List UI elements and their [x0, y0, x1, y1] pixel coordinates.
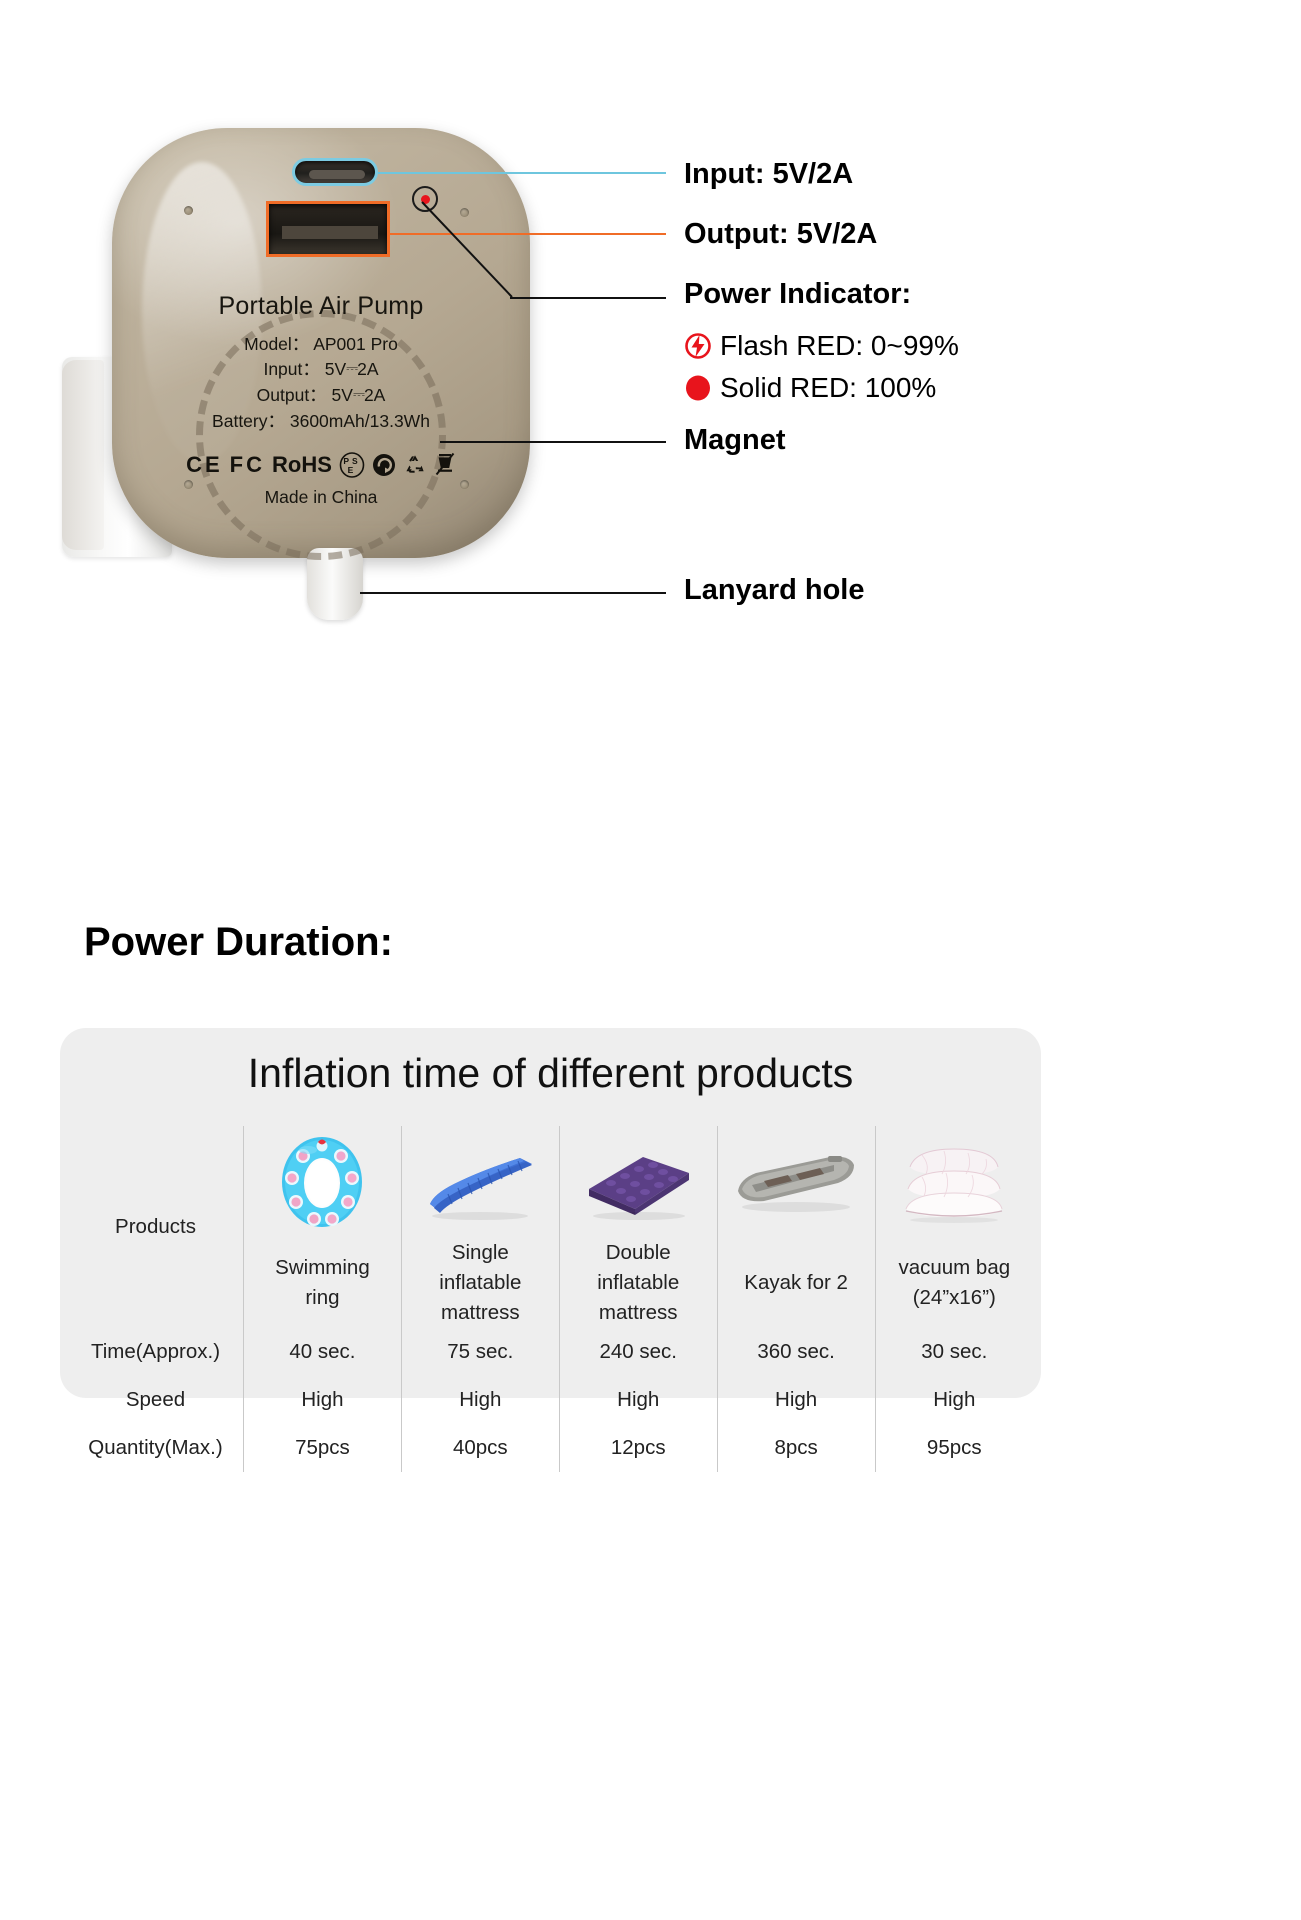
- dc-symbol-input-icon: ⎓: [346, 360, 357, 377]
- product-name-line: Kayak for 2: [718, 1268, 875, 1298]
- product-name-line: Swimming: [244, 1253, 401, 1283]
- thumbnail-cell-kayak: [717, 1126, 875, 1238]
- row-label-products: Products: [68, 1126, 244, 1328]
- product-name-line: (24”x16”): [876, 1283, 1033, 1313]
- device-spec-battery: Battery： 3600mAh/13.3Wh: [112, 409, 530, 434]
- product-name-line: Single: [402, 1238, 559, 1268]
- double-mattress-icon: [577, 1143, 699, 1221]
- product-name-kayak: Kayak for 2: [717, 1238, 875, 1328]
- table-row-time: Time(Approx.) 40 sec. 75 sec. 240 sec. 3…: [68, 1328, 1033, 1376]
- product-diagram: Portable Air Pump Model： AP001 Pro Input…: [0, 0, 1301, 700]
- leader-line-magnet: [440, 441, 666, 443]
- annotation-solid-red-label: Solid RED: 100%: [720, 372, 936, 404]
- table-row-speed: Speed High High High High High: [68, 1376, 1033, 1424]
- recycling-triangle-icon: [403, 453, 427, 477]
- kayak-icon: [730, 1145, 862, 1219]
- leader-line-lanyard: [360, 592, 666, 594]
- device-spec-input-text: Input： 5V: [263, 359, 346, 379]
- table-row-thumbnails: Products: [68, 1126, 1033, 1238]
- device-spec-model: Model： AP001 Pro: [112, 332, 530, 357]
- time-value-vacuum-bag: 30 sec.: [875, 1328, 1033, 1376]
- annotation-magnet: Magnet: [684, 424, 786, 457]
- thumbnail-cell-swimming-ring: [244, 1126, 402, 1238]
- device-made-in-label: Made in China: [112, 487, 530, 508]
- annotation-input: Input: 5V/2A: [684, 158, 853, 191]
- pse-mark-icon: PS E: [339, 452, 365, 478]
- usb-c-input-port: [292, 158, 378, 186]
- device-spec-input-amps: 2A: [357, 359, 378, 379]
- quantity-value-double-mattress: 12pcs: [559, 1424, 717, 1472]
- annotation-flash-red: Flash RED: 0~99%: [684, 330, 959, 362]
- usb-a-tongue: [282, 226, 378, 239]
- flash-bolt-icon: [684, 331, 712, 361]
- annotation-solid-red: Solid RED: 100%: [684, 372, 936, 404]
- usb-c-tongue: [309, 170, 365, 179]
- device-label-specs: Model： AP001 Pro Input： 5V⎓2A Output： 5V…: [112, 332, 530, 434]
- svg-text:E: E: [348, 465, 357, 475]
- time-value-single-mattress: 75 sec.: [401, 1328, 559, 1376]
- leader-line-power-indicator: [510, 297, 666, 299]
- speed-value-double-mattress: High: [559, 1376, 717, 1424]
- product-name-line: Double: [560, 1238, 717, 1268]
- product-name-single-mattress: Single inflatable mattress: [401, 1238, 559, 1328]
- product-name-line: vacuum bag: [876, 1253, 1033, 1283]
- product-name-line: mattress: [560, 1298, 717, 1328]
- quantity-value-kayak: 8pcs: [717, 1424, 875, 1472]
- pump-nozzle-cap: [62, 360, 104, 550]
- product-name-line: inflatable: [560, 1268, 717, 1298]
- row-label-quantity: Quantity(Max.): [68, 1424, 244, 1472]
- certification-marks-row: CE FC RoHS PS E: [112, 452, 530, 478]
- screw-top-left: [184, 206, 193, 215]
- product-name-line: inflatable: [402, 1268, 559, 1298]
- time-value-double-mattress: 240 sec.: [559, 1328, 717, 1376]
- thumbnail-cell-single-mattress: [401, 1126, 559, 1238]
- swimming-ring-icon: [268, 1134, 376, 1230]
- device-spec-output-amps: 2A: [364, 385, 385, 405]
- weee-crossed-bin-icon: [434, 452, 456, 478]
- speed-value-vacuum-bag: High: [875, 1376, 1033, 1424]
- speed-value-single-mattress: High: [401, 1376, 559, 1424]
- thumbnail-cell-vacuum-bag: [875, 1126, 1033, 1238]
- annotation-power-indicator: Power Indicator:: [684, 278, 911, 311]
- china-recycle-mark-icon: [372, 453, 396, 477]
- annotation-lanyard-hole: Lanyard hole: [684, 574, 865, 607]
- product-name-vacuum-bag: vacuum bag (24”x16”): [875, 1238, 1033, 1328]
- ce-mark-icon: CE: [186, 452, 223, 478]
- usb-a-output-port: [266, 201, 390, 257]
- quantity-value-single-mattress: 40pcs: [401, 1424, 559, 1472]
- product-name-line: mattress: [402, 1298, 559, 1328]
- product-name-swimming-ring: Swimming ring: [244, 1238, 402, 1328]
- row-label-time: Time(Approx.): [68, 1328, 244, 1376]
- time-value-swimming-ring: 40 sec.: [244, 1328, 402, 1376]
- quantity-value-vacuum-bag: 95pcs: [875, 1424, 1033, 1472]
- speed-value-swimming-ring: High: [244, 1376, 402, 1424]
- inflation-time-panel-title: Inflation time of different products: [60, 1050, 1041, 1097]
- device-spec-output-text: Output： 5V: [257, 385, 353, 405]
- dc-symbol-output-icon: ⎓: [353, 386, 364, 403]
- speed-value-kayak: High: [717, 1376, 875, 1424]
- single-mattress-icon: [420, 1142, 540, 1222]
- rohs-mark-icon: RoHS: [272, 452, 332, 478]
- thumbnail-cell-double-mattress: [559, 1126, 717, 1238]
- vacuum-bag-icon: [896, 1141, 1012, 1223]
- quantity-value-swimming-ring: 75pcs: [244, 1424, 402, 1472]
- table-row-quantity: Quantity(Max.) 75pcs 40pcs 12pcs 8pcs 95…: [68, 1424, 1033, 1472]
- row-label-speed: Speed: [68, 1376, 244, 1424]
- device-spec-input: Input： 5V⎓2A: [112, 357, 530, 383]
- annotation-flash-red-label: Flash RED: 0~99%: [720, 330, 959, 362]
- device-spec-output: Output： 5V⎓2A: [112, 383, 530, 409]
- annotation-output: Output: 5V/2A: [684, 218, 877, 251]
- product-name-line: ring: [244, 1283, 401, 1313]
- time-value-kayak: 360 sec.: [717, 1328, 875, 1376]
- solid-circle-icon: [684, 373, 712, 403]
- inflation-time-table: Products: [68, 1126, 1033, 1472]
- leader-line-indicator-diagonal: [418, 198, 528, 300]
- fcc-mark-icon: FC: [230, 452, 265, 478]
- product-name-double-mattress: Double inflatable mattress: [559, 1238, 717, 1328]
- leader-line-input: [378, 172, 666, 174]
- power-duration-title: Power Duration:: [84, 920, 393, 965]
- inflation-time-panel: Inflation time of different products Pro…: [60, 1028, 1041, 1398]
